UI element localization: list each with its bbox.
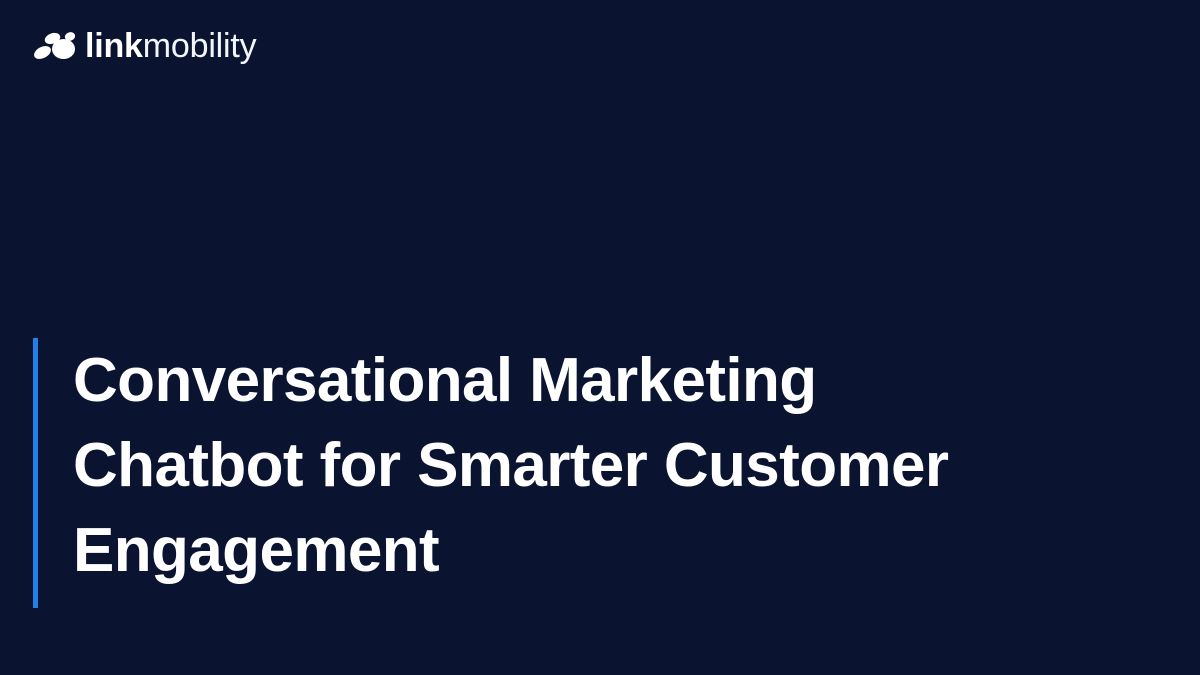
headline-line-3: Engagement (73, 508, 948, 593)
headline-line-2: Chatbot for Smarter Customer (73, 423, 948, 508)
brand-word-mobility: mobility (143, 27, 257, 65)
brand-logo: linkmobility (33, 26, 256, 66)
headline-line-1: Conversational Marketing (73, 338, 948, 423)
headline-block: Conversational Marketing Chatbot for Sma… (33, 338, 948, 608)
link-mobility-blobs-icon (33, 29, 75, 63)
brand-word-link: link (85, 27, 143, 65)
page-title: Conversational Marketing Chatbot for Sma… (38, 338, 948, 608)
brand-wordmark: linkmobility (85, 29, 256, 63)
title-slide: linkmobility Conversational Marketing Ch… (0, 0, 1200, 675)
